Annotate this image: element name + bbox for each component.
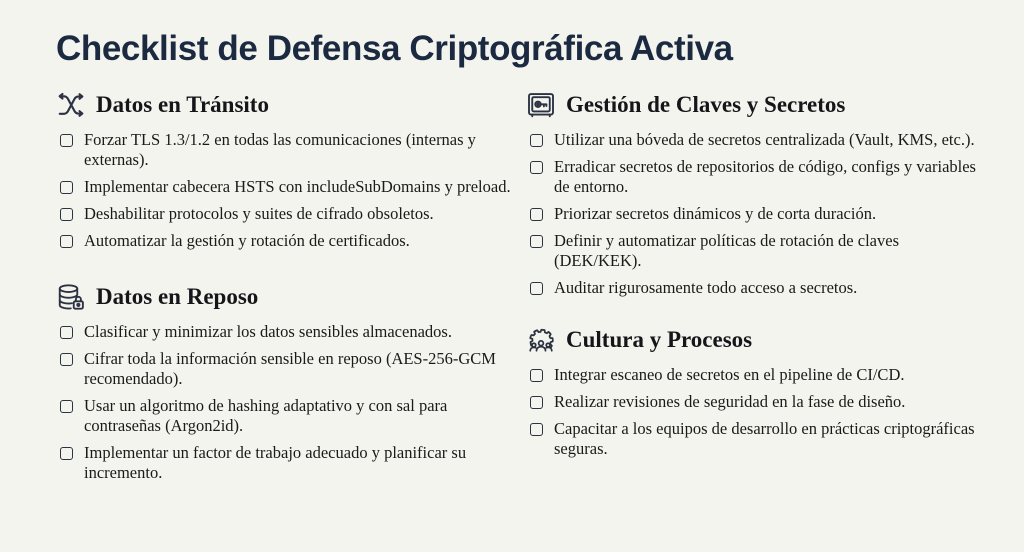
checkbox[interactable]: [530, 396, 543, 409]
checklist-gestion-de-claves: Utilizar una bóveda de secretos centrali…: [526, 130, 984, 298]
checklist-item-label: Cifrar toda la información sensible en r…: [84, 349, 514, 389]
checklist-item-label: Utilizar una bóveda de secretos centrali…: [554, 130, 975, 150]
section-header: Datos en Tránsito: [56, 89, 526, 121]
section-header: Datos en Reposo: [56, 281, 526, 313]
checklist-item-label: Usar un algoritmo de hashing adaptativo …: [84, 396, 514, 436]
checkbox[interactable]: [60, 208, 73, 221]
checklist-item[interactable]: Erradicar secretos de repositorios de có…: [530, 157, 984, 197]
database-lock-icon: [56, 282, 86, 312]
checklist-page: Checklist de Defensa Criptográfica Activ…: [0, 0, 1024, 552]
checklist-item[interactable]: Clasificar y minimizar los datos sensibl…: [60, 322, 526, 342]
checklist-item-label: Erradicar secretos de repositorios de có…: [554, 157, 979, 197]
checklist-item-label: Realizar revisiones de seguridad en la f…: [554, 392, 905, 412]
checklist-item[interactable]: Deshabilitar protocolos y suites de cifr…: [60, 204, 526, 224]
checklist-item-label: Capacitar a los equipos de desarrollo en…: [554, 419, 979, 459]
checklist-item-label: Deshabilitar protocolos y suites de cifr…: [84, 204, 434, 224]
safe-vault-icon: [526, 90, 556, 120]
checklist-item[interactable]: Capacitar a los equipos de desarrollo en…: [530, 419, 984, 459]
checklist-item-label: Implementar cabecera HSTS con includeSub…: [84, 177, 511, 197]
checkbox[interactable]: [530, 134, 543, 147]
checklist-item[interactable]: Usar un algoritmo de hashing adaptativo …: [60, 396, 526, 436]
section-title: Datos en Reposo: [96, 285, 258, 308]
checklist-item-label: Forzar TLS 1.3/1.2 en todas las comunica…: [84, 130, 514, 170]
checkbox[interactable]: [530, 161, 543, 174]
checklist-item-label: Priorizar secretos dinámicos y de corta …: [554, 204, 876, 224]
section-datos-en-reposo: Datos en Reposo Clasificar y minimizar l…: [56, 281, 526, 483]
page-title: Checklist de Defensa Criptográfica Activ…: [56, 30, 984, 69]
checklist-item[interactable]: Integrar escaneo de secretos en el pipel…: [530, 365, 984, 385]
checkbox[interactable]: [60, 134, 73, 147]
checkbox[interactable]: [60, 353, 73, 366]
checklist-datos-en-transito: Forzar TLS 1.3/1.2 en todas las comunica…: [56, 130, 526, 251]
checkbox[interactable]: [60, 181, 73, 194]
section-title: Gestión de Claves y Secretos: [566, 93, 845, 116]
shuffle-icon: [56, 90, 86, 120]
checklist-item[interactable]: Cifrar toda la información sensible en r…: [60, 349, 526, 389]
checklist-item[interactable]: Definir y automatizar políticas de rotac…: [530, 231, 984, 271]
checkbox[interactable]: [60, 400, 73, 413]
columns-container: Datos en Tránsito Forzar TLS 1.3/1.2 en …: [56, 89, 984, 483]
checklist-item[interactable]: Realizar revisiones de seguridad en la f…: [530, 392, 984, 412]
checklist-item[interactable]: Auditar rigurosamente todo acceso a secr…: [530, 278, 984, 298]
section-header: Cultura y Procesos: [526, 324, 984, 356]
checklist-item[interactable]: Utilizar una bóveda de secretos centrali…: [530, 130, 984, 150]
checkbox[interactable]: [530, 369, 543, 382]
section-header: Gestión de Claves y Secretos: [526, 89, 984, 121]
checkbox[interactable]: [530, 235, 543, 248]
checklist-cultura-y-procesos: Integrar escaneo de secretos en el pipel…: [526, 365, 984, 459]
checklist-item-label: Implementar un factor de trabajo adecuad…: [84, 443, 514, 483]
checkbox[interactable]: [60, 326, 73, 339]
checklist-item-label: Definir y automatizar políticas de rotac…: [554, 231, 979, 271]
section-title: Cultura y Procesos: [566, 328, 752, 351]
checkbox[interactable]: [530, 423, 543, 436]
checklist-item[interactable]: Automatizar la gestión y rotación de cer…: [60, 231, 526, 251]
checklist-item-label: Auditar rigurosamente todo acceso a secr…: [554, 278, 857, 298]
checkbox[interactable]: [530, 208, 543, 221]
checklist-item-label: Clasificar y minimizar los datos sensibl…: [84, 322, 452, 342]
checklist-item[interactable]: Forzar TLS 1.3/1.2 en todas las comunica…: [60, 130, 526, 170]
checklist-item[interactable]: Implementar un factor de trabajo adecuad…: [60, 443, 526, 483]
checklist-item[interactable]: Priorizar secretos dinámicos y de corta …: [530, 204, 984, 224]
checklist-item[interactable]: Implementar cabecera HSTS con includeSub…: [60, 177, 526, 197]
right-column: Gestión de Claves y Secretos Utilizar un…: [526, 89, 984, 459]
checklist-datos-en-reposo: Clasificar y minimizar los datos sensibl…: [56, 322, 526, 483]
section-title: Datos en Tránsito: [96, 93, 269, 116]
section-gestion-de-claves: Gestión de Claves y Secretos Utilizar un…: [526, 89, 984, 298]
section-cultura-y-procesos: Cultura y Procesos Integrar escaneo de s…: [526, 324, 984, 459]
checkbox[interactable]: [60, 235, 73, 248]
gear-people-icon: [526, 325, 556, 355]
section-datos-en-transito: Datos en Tránsito Forzar TLS 1.3/1.2 en …: [56, 89, 526, 251]
checkbox[interactable]: [60, 447, 73, 460]
checklist-item-label: Automatizar la gestión y rotación de cer…: [84, 231, 410, 251]
left-column: Datos en Tránsito Forzar TLS 1.3/1.2 en …: [56, 89, 526, 483]
checklist-item-label: Integrar escaneo de secretos en el pipel…: [554, 365, 904, 385]
checkbox[interactable]: [530, 282, 543, 295]
